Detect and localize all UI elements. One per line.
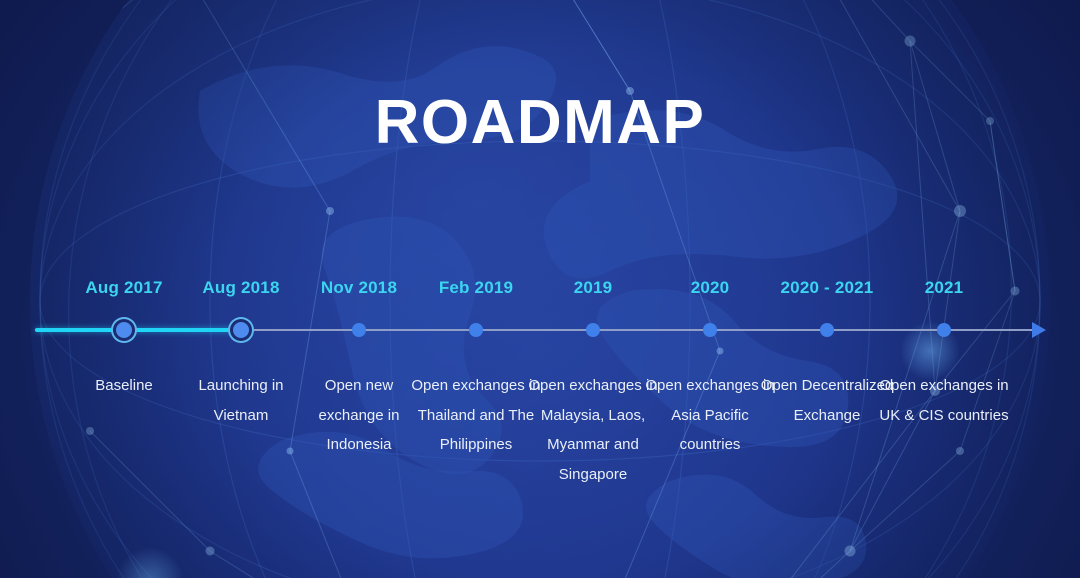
milestone-dot[interactable] bbox=[703, 323, 717, 337]
milestone-date: Nov 2018 bbox=[301, 278, 418, 298]
milestone-description: Open Decentralized Exchange bbox=[761, 371, 894, 430]
arrow-right-icon bbox=[1032, 322, 1046, 338]
milestone-dot[interactable] bbox=[352, 323, 366, 337]
milestone-dot[interactable] bbox=[937, 323, 951, 337]
milestone-description: Open exchanges in Malaysia, Laos, Myanma… bbox=[527, 371, 660, 489]
milestone-description: Open exchanges in Thailand and The Phili… bbox=[410, 371, 543, 460]
milestone-date: 2019 bbox=[535, 278, 652, 298]
roadmap-slide: ROADMAP Aug 2017 Baseline Aug 2018 Launc… bbox=[0, 0, 1080, 578]
milestone-dot[interactable] bbox=[233, 322, 249, 338]
timeline: Aug 2017 Baseline Aug 2018 Launching in … bbox=[0, 0, 1080, 578]
milestone-description: Baseline bbox=[58, 371, 191, 401]
milestone-date: Feb 2019 bbox=[418, 278, 535, 298]
milestone-date: 2021 bbox=[886, 278, 1003, 298]
milestone-date: Aug 2018 bbox=[183, 278, 300, 298]
milestone-description: Open exchanges in UK & CIS countries bbox=[878, 371, 1011, 430]
milestone-date: 2020 - 2021 bbox=[769, 278, 886, 298]
milestone-dot[interactable] bbox=[469, 323, 483, 337]
milestone-date: 2020 bbox=[652, 278, 769, 298]
milestone-dot[interactable] bbox=[820, 323, 834, 337]
milestone-description: Open exchanges in Asia Pacific countries bbox=[644, 371, 777, 460]
milestone-date: Aug 2017 bbox=[66, 278, 183, 298]
milestone-description: Launching in Vietnam bbox=[175, 371, 308, 430]
milestone-description: Open new exchange in Indonesia bbox=[293, 371, 426, 460]
milestone-dot[interactable] bbox=[586, 323, 600, 337]
timeline-progress bbox=[35, 328, 241, 332]
milestone-dot[interactable] bbox=[116, 322, 132, 338]
